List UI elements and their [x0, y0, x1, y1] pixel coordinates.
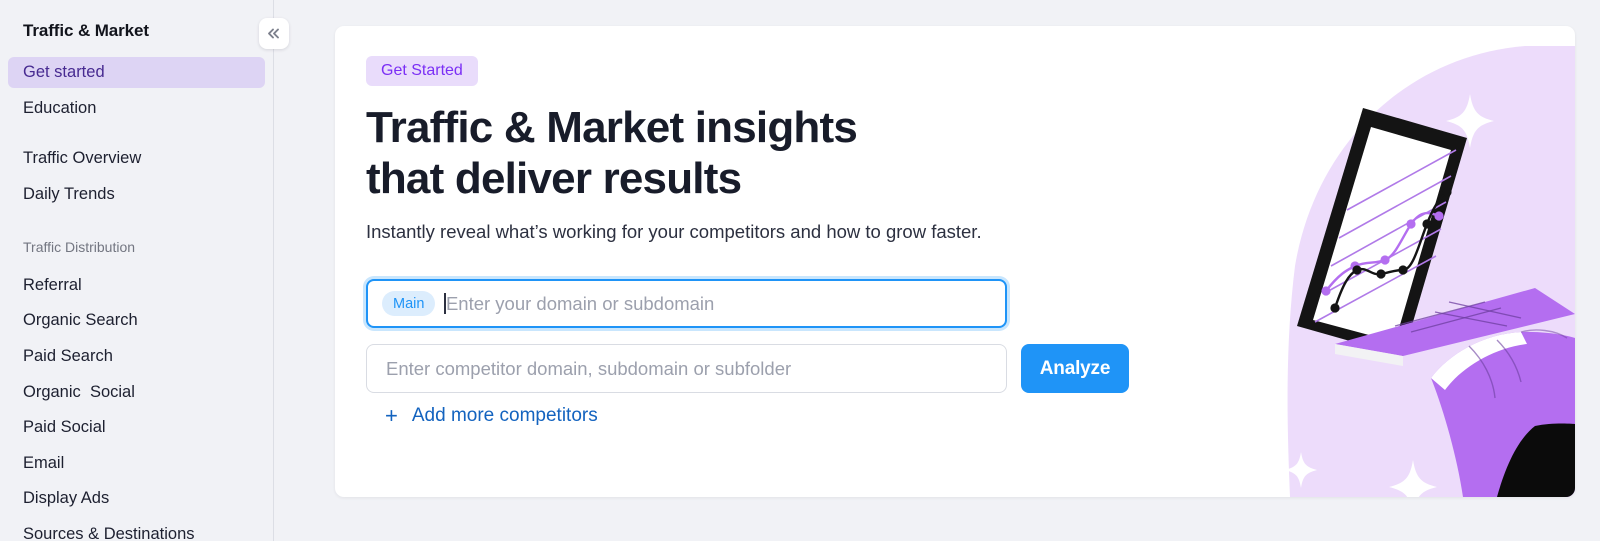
competitor-domain-field[interactable]: Enter competitor domain, subdomain or su… — [366, 344, 1007, 393]
page-title: Traffic & Market insights that deliver r… — [366, 102, 857, 204]
headline-line-2: that deliver results — [366, 153, 857, 204]
sidebar-item-education[interactable]: Education — [8, 93, 265, 124]
main-card: Get Started Traffic & Market insights th… — [335, 26, 1575, 497]
sidebar-item-label: Paid Social — [23, 418, 106, 437]
sidebar-divider — [273, 0, 274, 541]
sidebar-item-display-ads[interactable]: Display Ads — [8, 483, 265, 514]
sidebar-item-label: Get started — [23, 63, 105, 82]
sidebar: Traffic & Market Get started Education T… — [0, 0, 273, 541]
sidebar-item-label: Education — [23, 99, 96, 118]
sidebar-item-daily-trends[interactable]: Daily Trends — [8, 179, 265, 210]
add-more-competitors-label: Add more competitors — [412, 405, 598, 427]
page-subtitle: Instantly reveal what’s working for your… — [366, 221, 982, 243]
sidebar-item-label: Organic Search — [23, 311, 138, 330]
sidebar-collapse-button[interactable] — [259, 18, 289, 49]
sidebar-item-label: Daily Trends — [23, 185, 115, 204]
sidebar-item-label: Paid Search — [23, 347, 113, 366]
sidebar-item-label: Referral — [23, 276, 82, 295]
sidebar-item-organic-social[interactable]: Organic Social — [8, 377, 265, 408]
sidebar-item-label: Organic Social — [23, 383, 135, 402]
sidebar-item-organic-search[interactable]: Organic Search — [8, 305, 265, 336]
main-domain-placeholder: Enter your domain or subdomain — [446, 293, 714, 315]
sidebar-item-paid-search[interactable]: Paid Search — [8, 341, 265, 372]
competitor-domain-placeholder: Enter competitor domain, subdomain or su… — [386, 358, 791, 380]
double-chevron-left-icon — [266, 27, 282, 40]
sidebar-item-label: Traffic Overview — [23, 149, 141, 168]
analyze-button[interactable]: Analyze — [1021, 344, 1129, 393]
sidebar-item-label: Display Ads — [23, 489, 109, 508]
get-started-badge: Get Started — [366, 56, 478, 86]
sidebar-section-traffic-distribution: Traffic Distribution — [23, 239, 135, 255]
sidebar-item-get-started[interactable]: Get started — [8, 57, 265, 88]
add-more-competitors-link[interactable]: + Add more competitors — [385, 405, 598, 427]
sidebar-item-label: Sources & Destinations — [23, 525, 195, 541]
sidebar-title: Traffic & Market — [23, 21, 149, 41]
plus-icon: + — [385, 405, 398, 427]
sidebar-item-paid-social[interactable]: Paid Social — [8, 412, 265, 443]
sidebar-item-traffic-overview[interactable]: Traffic Overview — [8, 143, 265, 174]
sidebar-item-referral[interactable]: Referral — [8, 270, 265, 301]
sidebar-item-email[interactable]: Email — [8, 448, 265, 479]
sidebar-item-label: Email — [23, 454, 64, 473]
main-tag-badge: Main — [382, 291, 435, 316]
headline-line-1: Traffic & Market insights — [366, 102, 857, 153]
main-domain-field[interactable]: Main Enter your domain or subdomain — [366, 279, 1007, 328]
sidebar-item-sources-destinations[interactable]: Sources & Destinations — [8, 519, 265, 541]
hero-illustration — [1235, 26, 1575, 497]
app-root: Traffic & Market Get started Education T… — [0, 0, 1600, 541]
